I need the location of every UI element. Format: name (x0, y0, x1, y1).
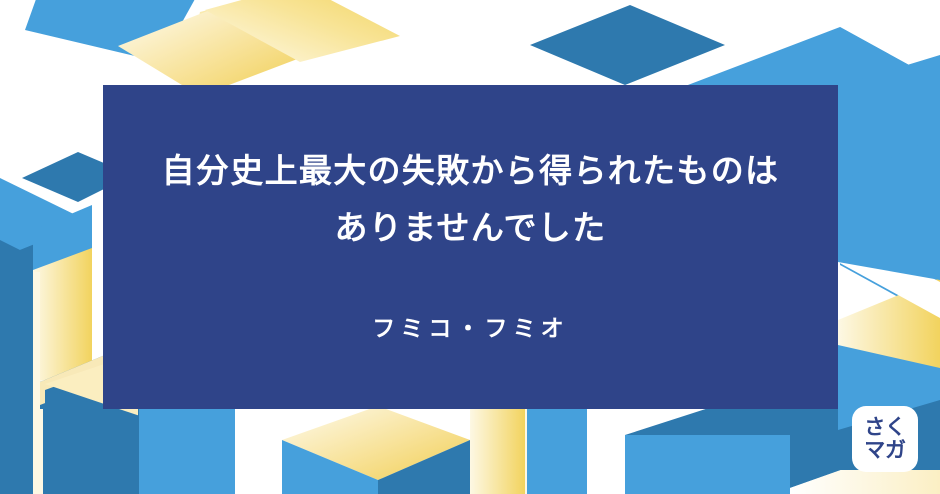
sakumaga-logo-badge[interactable]: さく マガ (852, 406, 918, 472)
brand-logo-line-2: マガ (864, 440, 906, 461)
shape-bottom-white-gap (587, 409, 625, 494)
shape-bottom-sq-edge (33, 409, 43, 494)
shape-bottom-blue-strip (527, 409, 587, 494)
shape-bottom-gold-strip (470, 409, 525, 494)
shape-bottom-square-light (139, 409, 235, 494)
banner-canvas: 自分史上最大の失敗から得られたものは ありませんでした フミコ・フミオ さく マ… (0, 0, 940, 494)
title-card: 自分史上最大の失敗から得られたものは ありませんでした フミコ・フミオ (103, 85, 838, 409)
page-title: 自分史上最大の失敗から得られたものは ありませんでした (103, 143, 838, 257)
brand-logo-line-1: さく (864, 417, 906, 438)
author-name: フミコ・フミオ (103, 309, 838, 343)
